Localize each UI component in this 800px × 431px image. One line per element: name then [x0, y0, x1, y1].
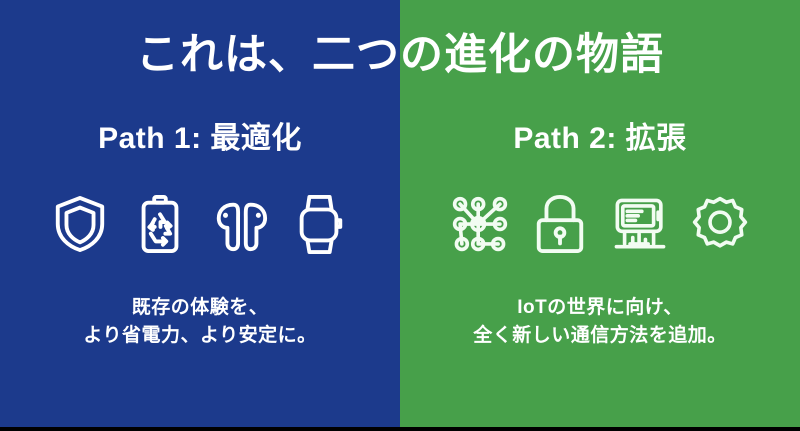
path-2-icon-row: [400, 184, 800, 264]
slide-canvas: これは、二つの進化の物語 Path 1: 最適化: [0, 0, 800, 431]
column-path-2: Path 2: 拡張: [400, 120, 800, 350]
path-1-caption-line-1: 既存の体験を、: [0, 294, 400, 322]
path-2-caption-line-2: 全く新しい通信方法を追加。: [400, 322, 800, 350]
lock-icon: [531, 193, 589, 255]
path-1-heading: Path 1: 最適化: [0, 120, 400, 158]
mesh-network-icon: [451, 193, 509, 255]
path-1-caption: 既存の体験を、 より省電力、より安定に。: [0, 294, 400, 350]
slide-title: これは、二つの進化の物語: [0, 28, 800, 84]
path-1-icon-row: [0, 184, 400, 264]
path-2-caption-line-1: IoTの世界に向け、: [400, 294, 800, 322]
path-2-heading: Path 2: 拡張: [400, 120, 800, 158]
earbuds-icon: [211, 193, 269, 255]
path-2-caption: IoTの世界に向け、 全く新しい通信方法を追加。: [400, 294, 800, 350]
path-1-caption-line-2: より省電力、より安定に。: [0, 322, 400, 350]
battery-recycle-icon: [131, 193, 189, 255]
column-path-1: Path 1: 最適化: [0, 120, 400, 350]
bottom-letterbox-bar: [0, 427, 800, 431]
gear-icon: [691, 193, 749, 255]
electronic-shelf-label-icon: [611, 193, 669, 255]
smartwatch-icon: [291, 193, 349, 255]
shield-icon: [51, 193, 109, 255]
